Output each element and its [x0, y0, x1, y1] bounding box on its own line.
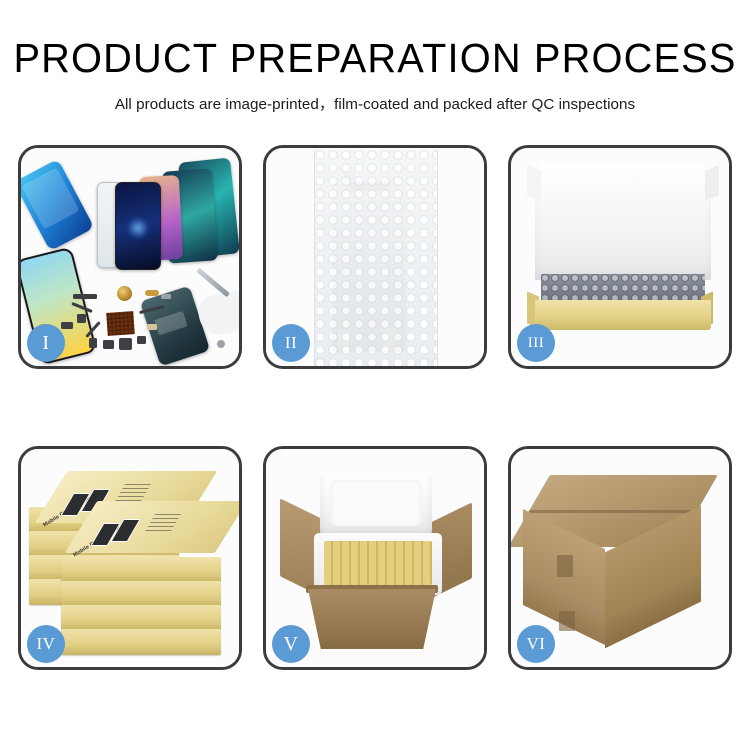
part-ic2-icon [61, 322, 73, 329]
part-shield-icon [103, 340, 114, 349]
stacked-box-8 [61, 629, 221, 655]
step-panel-4: Mobile Phone Spare Parts Mobile Phone Sp… [18, 446, 242, 670]
bubble-wrapped-contents-icon [541, 274, 705, 302]
step-panel-6: VI [508, 446, 732, 670]
part-bracket-icon [161, 294, 171, 299]
foam-lid-icon [535, 164, 711, 280]
part-connector-icon [89, 338, 97, 348]
part-chip-icon [73, 294, 97, 299]
page-title: PRODUCT PREPARATION PROCESS [11, 0, 739, 79]
part-camera-icon [119, 338, 132, 350]
step-panel-2: II [263, 145, 487, 369]
stacked-box-6 [61, 581, 221, 607]
part-ic-icon [77, 314, 86, 323]
page-subtitle: All products are image-printed，film-coat… [0, 79, 750, 114]
stacked-box-5 [61, 557, 221, 583]
product-preparation-infographic: PRODUCT PREPARATION PROCESS All products… [0, 0, 750, 750]
step-panel-1: I [18, 145, 242, 369]
carton-tape-upper-icon [557, 555, 573, 577]
packed-yellow-boxes-icon [324, 541, 432, 585]
bubble-wrap-bag-icon [314, 150, 438, 366]
step-badge-6: VI [517, 625, 555, 663]
speaker-coil-icon [117, 286, 132, 301]
step-badge-2: II [272, 324, 310, 362]
step-badge-1: I [27, 324, 65, 362]
step-badge-4: IV [27, 625, 65, 663]
step-badge-3: III [517, 324, 555, 362]
foam-cooler-lid-icon [320, 471, 432, 539]
header: PRODUCT PREPARATION PROCESS All products… [0, 0, 750, 114]
logic-board-icon [106, 311, 135, 336]
part-small-icon [137, 336, 146, 344]
step-panel-3: III [508, 145, 732, 369]
phone-navy-screen-icon [115, 182, 161, 270]
step-panel-5: V [263, 446, 487, 670]
tweezers-icon [196, 268, 230, 298]
step-badge-5: V [272, 625, 310, 663]
stacked-box-7 [61, 605, 221, 631]
part-gold-icon [145, 290, 159, 296]
carton-front-icon [308, 589, 436, 649]
screw-icon [217, 340, 225, 348]
process-steps-grid: I II III [18, 145, 732, 670]
part-tan-icon [147, 324, 157, 330]
carton-tape-lower-icon [559, 611, 575, 631]
blue-adhesive-film-icon [21, 159, 94, 251]
kraft-box-front-icon [535, 300, 711, 330]
